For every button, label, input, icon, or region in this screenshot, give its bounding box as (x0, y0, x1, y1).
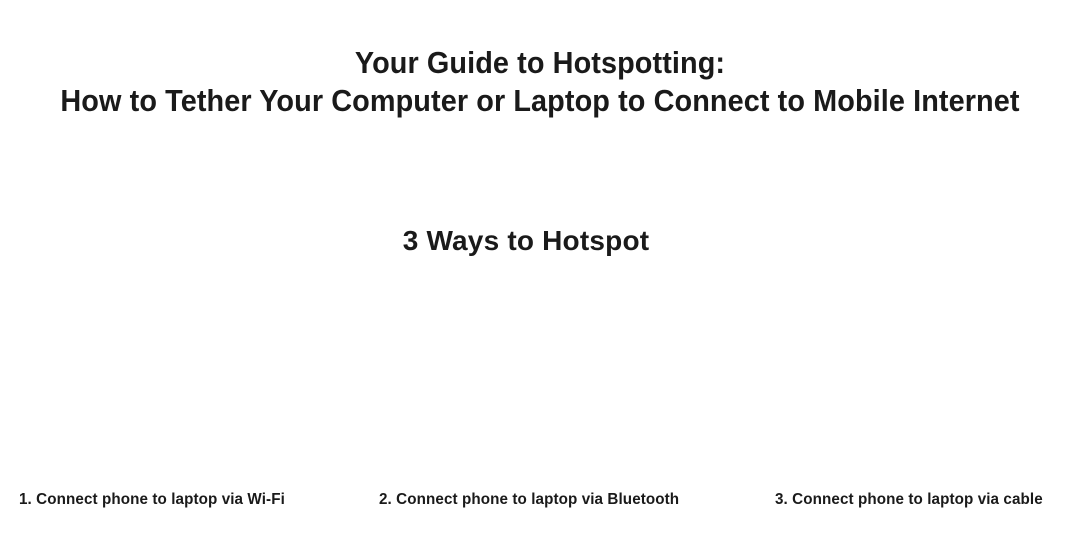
method-caption-bluetooth: 2. Connect phone to laptop via Bluetooth (379, 488, 679, 512)
method-caption-wifi: 1. Connect phone to laptop via Wi-Fi (19, 488, 285, 512)
caption-row: 1. Connect phone to laptop via Wi-Fi 2. … (0, 488, 1080, 514)
page-title: Your Guide to Hotspotting: How to Tether… (0, 44, 1080, 120)
infographic-page: Your Guide to Hotspotting: How to Tether… (0, 0, 1080, 552)
title-line-2: How to Tether Your Computer or Laptop to… (38, 82, 1042, 120)
method-caption-cable: 3. Connect phone to laptop via cable (775, 488, 1043, 512)
illustration-band (0, 282, 1080, 478)
bluetooth-tether-illustration (360, 282, 720, 478)
section-heading-label: 3 Ways to Hotspot (403, 224, 650, 258)
title-line-1: Your Guide to Hotspotting: (38, 44, 1042, 82)
cable-tether-illustration (720, 282, 1080, 478)
section-heading: 3 Ways to Hotspot (0, 224, 1080, 258)
wifi-tether-illustration (0, 282, 360, 478)
